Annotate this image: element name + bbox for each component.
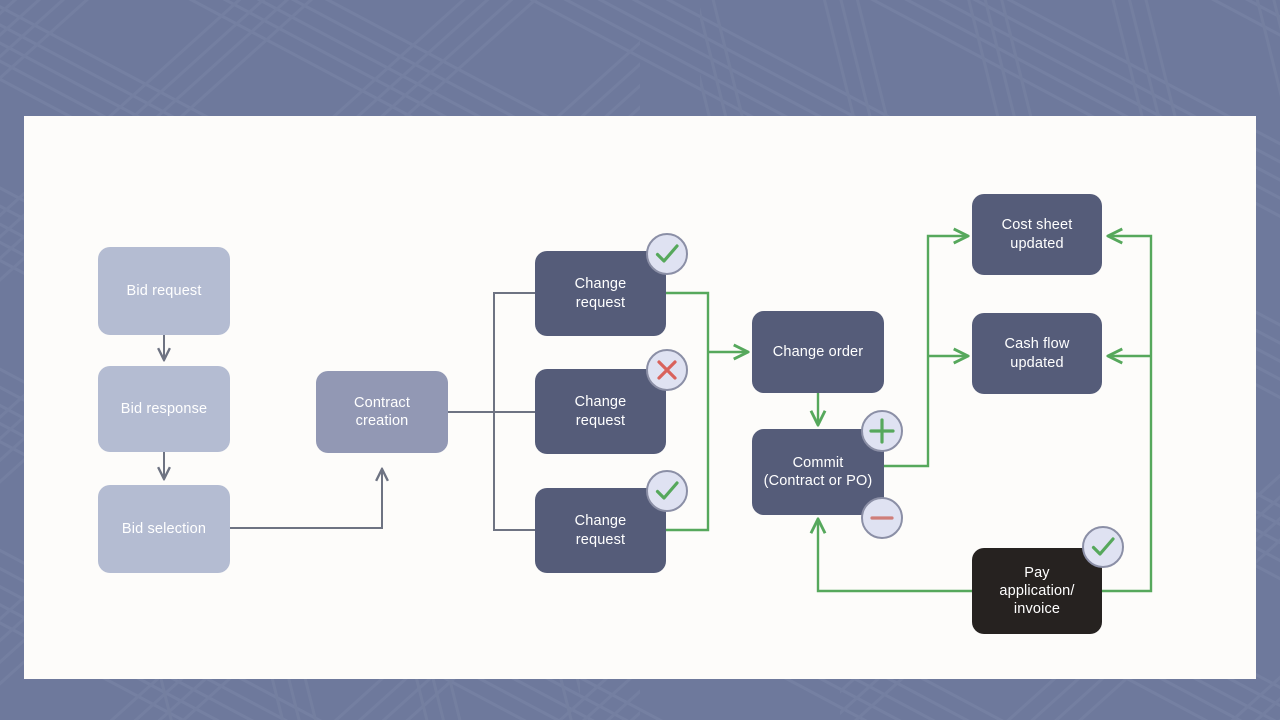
node-change-request-1-label: Changerequest [575, 275, 627, 311]
node-pay-application-invoice-label: Payapplication/invoice [999, 564, 1074, 618]
check-icon [1084, 528, 1122, 566]
node-change-order[interactable]: Change order [752, 311, 884, 393]
edge-bid-selection-to-contract-creation [230, 469, 382, 528]
node-change-request-3[interactable]: Changerequest [535, 488, 666, 573]
node-bid-selection-label: Bid selection [122, 520, 206, 538]
node-cash-flow-updated-label: Cash flowupdated [1004, 335, 1069, 371]
node-bid-selection[interactable]: Bid selection [98, 485, 230, 573]
node-cash-flow-updated[interactable]: Cash flowupdated [972, 313, 1102, 394]
node-contract-creation[interactable]: Contractcreation [316, 371, 448, 453]
diagram-card: Bid request Bid response Bid selection C… [24, 116, 1256, 679]
plus-icon [863, 412, 901, 450]
node-cost-sheet-updated-label: Cost sheetupdated [1002, 216, 1073, 252]
node-change-request-2-label: Changerequest [575, 393, 627, 429]
screenshot-root: Bid request Bid response Bid selection C… [0, 0, 1280, 720]
cross-icon [648, 351, 686, 389]
node-bid-request[interactable]: Bid request [98, 247, 230, 335]
node-change-request-2[interactable]: Changerequest [535, 369, 666, 454]
badge-change-request-1-approved[interactable] [646, 233, 688, 275]
node-bid-response[interactable]: Bid response [98, 366, 230, 452]
badge-commit-increase[interactable] [861, 410, 903, 452]
node-cost-sheet-updated[interactable]: Cost sheetupdated [972, 194, 1102, 275]
node-contract-creation-label: Contractcreation [354, 394, 410, 430]
edge-contract-to-change-request-3 [494, 412, 535, 530]
node-bid-response-label: Bid response [121, 400, 207, 418]
badge-commit-decrease[interactable] [861, 497, 903, 539]
node-change-request-1[interactable]: Changerequest [535, 251, 666, 336]
node-bid-request-label: Bid request [127, 282, 202, 300]
node-change-request-3-label: Changerequest [575, 512, 627, 548]
edge-contract-to-change-request-1 [448, 293, 535, 412]
badge-change-request-2-rejected[interactable] [646, 349, 688, 391]
node-change-order-label: Change order [773, 343, 863, 361]
check-icon [648, 235, 686, 273]
badge-pay-application-approved[interactable] [1082, 526, 1124, 568]
check-icon [648, 472, 686, 510]
badge-change-request-3-approved[interactable] [646, 470, 688, 512]
minus-icon [863, 499, 901, 537]
node-pay-application-invoice[interactable]: Payapplication/invoice [972, 548, 1102, 634]
node-commit-label: Commit(Contract or PO) [764, 454, 873, 490]
edge-change-request-1-to-change-order [666, 293, 708, 352]
